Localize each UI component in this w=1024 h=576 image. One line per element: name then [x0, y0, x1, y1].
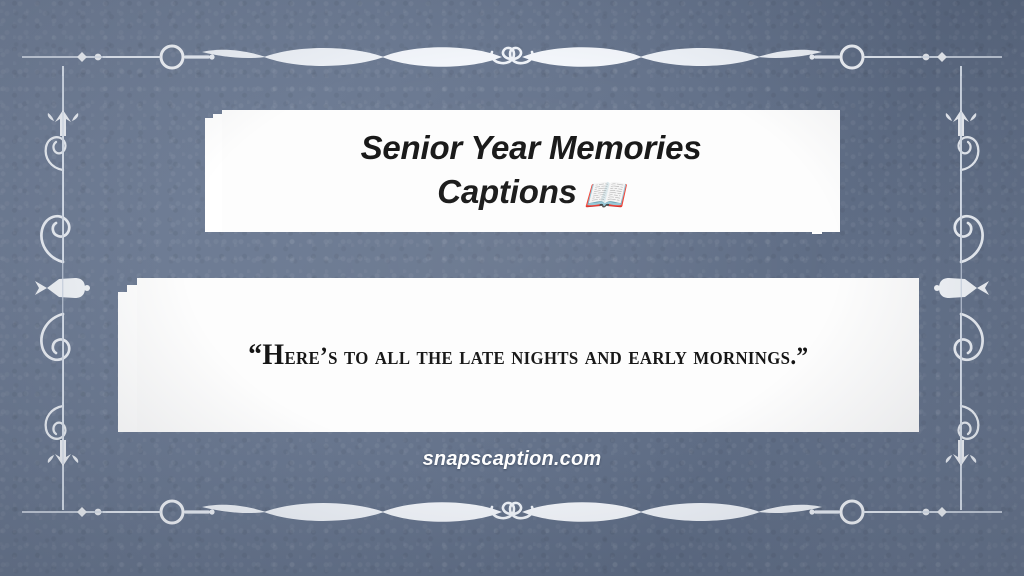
- ornamental-scroll-right: [934, 66, 989, 510]
- ornamental-scroll-left: [35, 66, 90, 510]
- title-line-2: Captions: [437, 173, 577, 210]
- quote-drop-cap: “H: [248, 338, 284, 371]
- ornamental-flourish-top: [22, 46, 1002, 68]
- ornamental-flourish-bottom: [22, 501, 1002, 523]
- site-watermark: snapscaption.com: [0, 448, 1024, 471]
- quote-card: “Here’s to all the late nights and early…: [118, 278, 918, 443]
- quote-text: “Here’s to all the late nights and early…: [248, 338, 808, 372]
- title-line-1: Senior Year Memories: [361, 129, 702, 166]
- page-title: Senior Year Memories Captions📖: [335, 126, 728, 216]
- quote-card-surface: “Here’s to all the late nights and early…: [137, 278, 919, 432]
- quote-body: ere’s to all the late nights and early m…: [284, 343, 808, 370]
- title-card: Senior Year Memories Captions📖: [205, 110, 845, 240]
- open-book-emoji: 📖: [584, 173, 625, 217]
- poster-canvas: Senior Year Memories Captions📖 “Here’s t…: [0, 0, 1024, 576]
- title-card-surface: Senior Year Memories Captions📖: [222, 110, 840, 232]
